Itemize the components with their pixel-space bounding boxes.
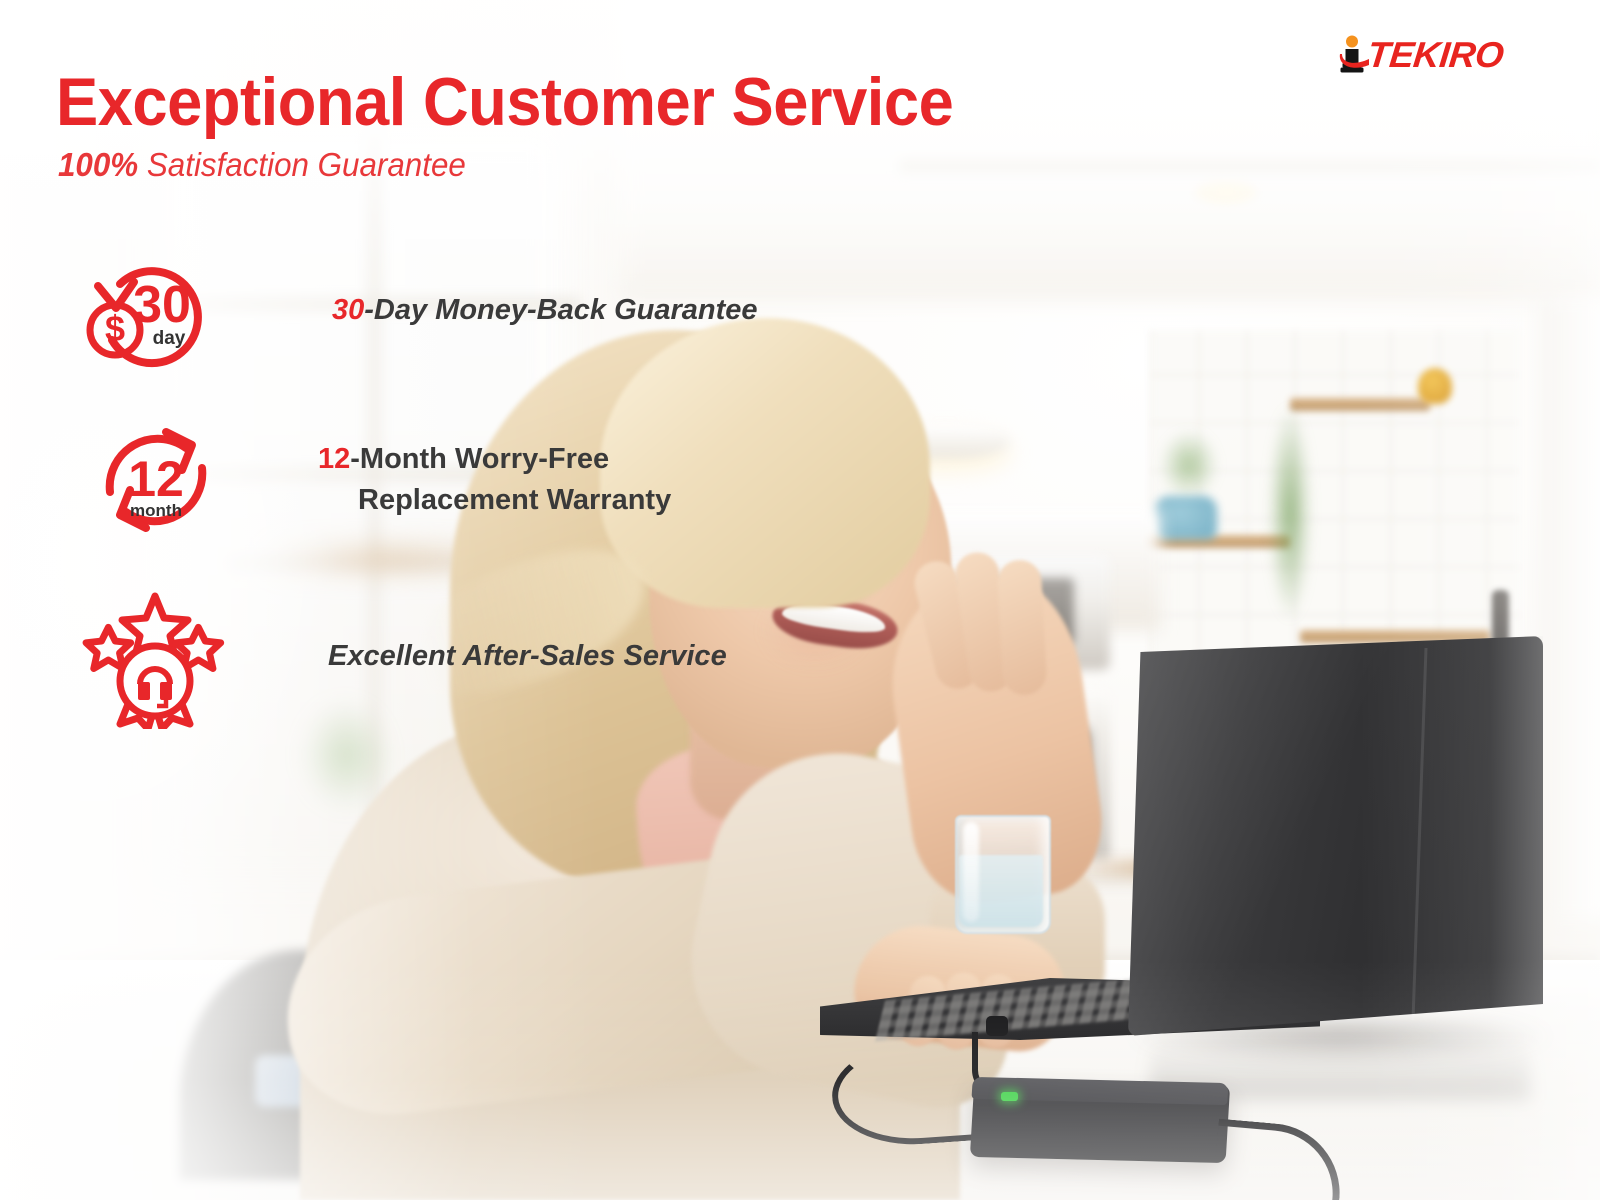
tekiro-logo[interactable]: TEKIRO [1338, 34, 1502, 76]
banner-root: TEKIRO Exceptional Customer Service 100%… [0, 0, 1600, 1200]
icon-unit-day: day [153, 328, 186, 349]
feature-3-rest: Excellent After-Sales Service [328, 640, 727, 672]
feature-after-sales: Excellent After-Sales Service [80, 584, 727, 729]
feature-2-rest: -Month Worry-Free [350, 443, 609, 475]
warranty-12-month-icon: 12 month [86, 410, 226, 550]
icon-unit-month: month [130, 501, 182, 520]
subtitle-rest: Satisfaction Guarantee [138, 146, 466, 183]
headset-earcup-icon [160, 682, 172, 700]
feature-1-number: 30 [332, 294, 364, 326]
money-back-30-day-icon: $ 30 day [78, 246, 228, 376]
tekiro-wordmark: TEKIRO [1366, 37, 1505, 73]
feature-2-line2: Replacement Warranty [318, 480, 671, 521]
feature-1-rest: -Day Money-Back Guarantee [364, 294, 757, 326]
page-subtitle: 100% Satisfaction Guarantee [58, 146, 466, 184]
icon-number-12: 12 [128, 451, 184, 507]
headset-earcup-icon [138, 682, 150, 700]
feature-money-back: $ 30 day 30-Day Money-Back Guarantee [78, 246, 758, 376]
feature-warranty: 12 month 12-Month Worry-Free Replacement… [86, 410, 671, 550]
badge-circle [120, 646, 190, 716]
subtitle-percent: 100% [58, 146, 138, 183]
icon-number-30: 30 [133, 276, 191, 334]
svg-text:$: $ [105, 308, 125, 349]
feature-1-text: 30-Day Money-Back Guarantee [332, 290, 758, 331]
feature-3-text: Excellent After-Sales Service [328, 636, 727, 677]
feature-2-number: 12 [318, 443, 350, 475]
page-title: Exceptional Customer Service [56, 68, 953, 136]
feature-2-text: 12-Month Worry-Free Replacement Warranty [318, 439, 671, 521]
after-sales-service-badge-icon [80, 584, 230, 729]
overlay-content: TEKIRO Exceptional Customer Service 100%… [0, 0, 1600, 1200]
